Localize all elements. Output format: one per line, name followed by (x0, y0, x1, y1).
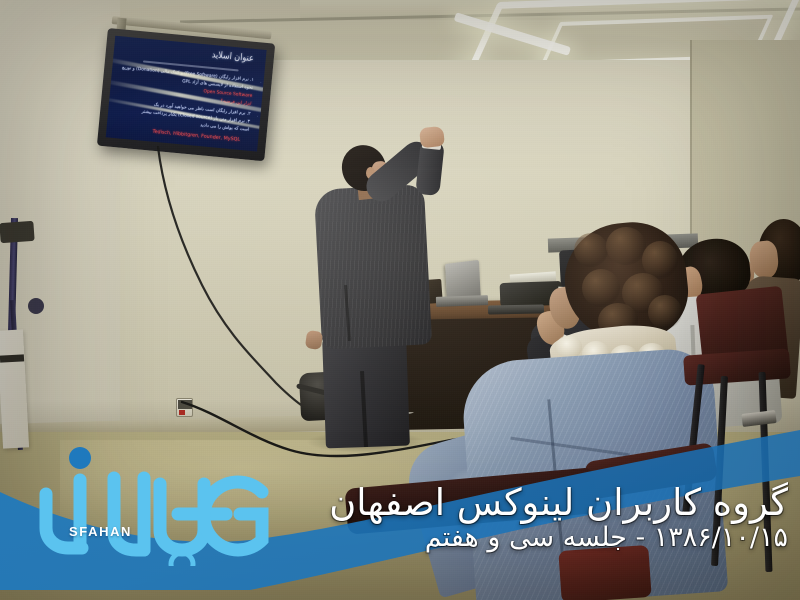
photo-canvas: عنوان اسلاید ۱. نرم افزار رایگان (Free S… (0, 0, 800, 600)
presenter-lowered-hand (305, 330, 323, 350)
slide-bullet-1: . (260, 79, 262, 84)
chair-cushion-red (558, 545, 651, 600)
hair-curl (574, 233, 608, 267)
slide-title: عنوان اسلاید (211, 49, 254, 63)
presenter-pointing-fist (419, 126, 445, 148)
audience-group (360, 215, 800, 600)
slide-footer-credits: Tedisch, Hibbitgren, Founder, MySQL (152, 130, 240, 144)
slide-bullet-2: . (257, 112, 259, 117)
flipchart-knob (28, 298, 44, 314)
hair-curl (648, 295, 682, 329)
slide-line-3: Open Source Software (203, 89, 252, 99)
hair-curl (606, 227, 646, 265)
wall-mounted-display: عنوان اسلاید ۱. نرم افزار رایگان (Free S… (97, 28, 275, 161)
flipchart-clip (0, 221, 35, 243)
display-screen-surface: عنوان اسلاید ۱. نرم افزار رایگان (Free S… (106, 36, 267, 152)
hair-curl (582, 269, 620, 307)
flipchart-paper-clip (0, 354, 24, 362)
